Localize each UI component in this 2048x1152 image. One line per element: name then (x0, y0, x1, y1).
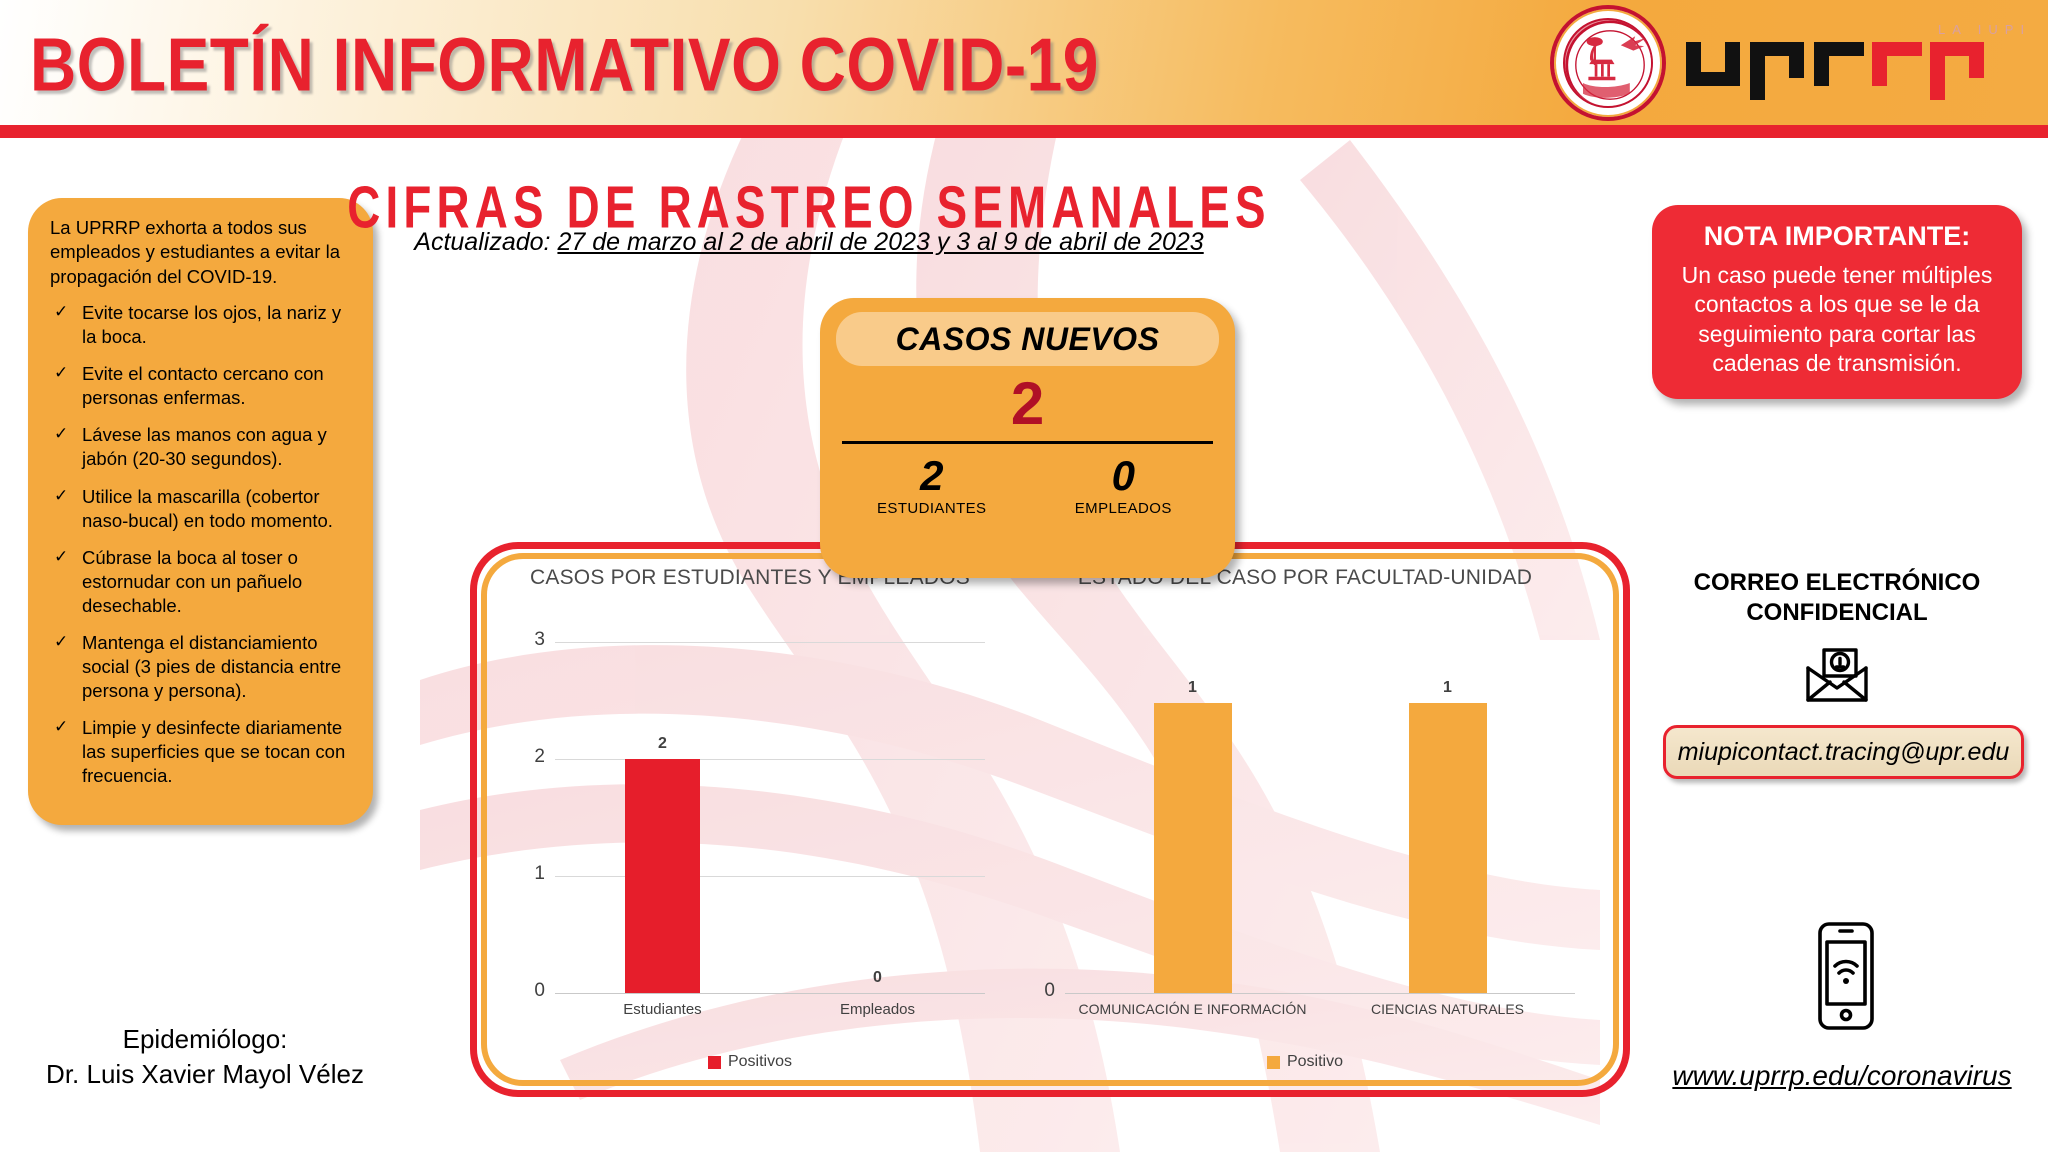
check-icon: ✓ (54, 716, 70, 788)
chart-gridline (555, 759, 985, 760)
updated-label: Actualizado: (414, 228, 550, 256)
website-link[interactable]: www.uprrp.edu/coronavirus (1652, 1060, 2032, 1092)
tip-text: Lávese las manos con agua y jabón (20-30… (82, 423, 351, 471)
chart-legend: Positivo (1005, 1053, 1605, 1071)
tip-text: Cúbrase la boca al toser o estornudar co… (82, 546, 351, 618)
legend-swatch (708, 1056, 721, 1069)
uprrp-wordmark: LA IUPI (1680, 20, 2040, 106)
legend-swatch (1267, 1056, 1280, 1069)
tip-item: ✓Lávese las manos con agua y jabón (20-3… (50, 423, 351, 471)
new-cases-heading-text: CASOS NUEVOS (896, 321, 1160, 358)
tip-item: ✓Mantenga el distanciamiento social (3 p… (50, 631, 351, 703)
tip-text: Limpie y desinfecte diariamente las supe… (82, 716, 351, 788)
chart-bar-label: 0 (838, 969, 918, 987)
tip-text: Mantenga el distanciamiento social (3 pi… (82, 631, 351, 703)
new-cases-heading: CASOS NUEVOS (836, 312, 1219, 366)
new-cases-employees: 0 EMPLEADOS (1028, 454, 1220, 517)
epidemiologist-role: Epidemiólogo: (10, 1022, 400, 1057)
chart-y-tick: 3 (515, 629, 545, 651)
chart-bar (1409, 703, 1487, 993)
chart-y-tick: 2 (515, 746, 545, 768)
new-cases-divider (842, 441, 1213, 444)
important-note-card: NOTA IMPORTANTE: Un caso puede tener múl… (1652, 205, 2022, 399)
check-icon: ✓ (54, 301, 70, 349)
new-cases-card: CASOS NUEVOS 2 2 ESTUDIANTES 0 EMPLEADOS (820, 298, 1235, 578)
chart-bar (625, 759, 700, 993)
tip-item: ✓Evite tocarse los ojos, la nariz y la b… (50, 301, 351, 349)
epidemiologist-credit: Epidemiólogo: Dr. Luis Xavier Mayol Véle… (10, 1022, 400, 1092)
note-body: Un caso puede tener múltiples contactos … (1672, 261, 2002, 379)
tips-list: ✓Evite tocarse los ojos, la nariz y la b… (50, 301, 351, 788)
contact-title-line1: CORREO ELECTRÓNICO (1652, 568, 2022, 598)
epidemiologist-name: Dr. Luis Xavier Mayol Vélez (10, 1057, 400, 1092)
contact-email-pill[interactable]: miupicontact.tracing@upr.edu (1663, 725, 2024, 779)
tip-text: Utilice la mascarilla (cobertor naso-buc… (82, 485, 351, 533)
contact-title-line2: CONFIDENCIAL (1652, 598, 2022, 628)
legend-label: Positivo (1287, 1053, 1343, 1071)
chart-bar (1154, 703, 1232, 993)
chart-x-label: COMUNICACIÓN E INFORMACIÓN (1065, 1001, 1320, 1017)
students-label: ESTUDIANTES (836, 500, 1028, 517)
chart-y-tick: 0 (1025, 980, 1055, 1002)
check-icon: ✓ (54, 546, 70, 618)
charts-area: CASOS POR ESTUDIANTES Y EMPLEADOS 01232E… (495, 566, 1605, 1073)
tip-item: ✓Limpie y desinfecte diariamente las sup… (50, 716, 351, 788)
prevention-tips-card: La UPRRP exhorta a todos sus empleados y… (28, 198, 373, 825)
check-icon: ✓ (54, 423, 70, 471)
chart-estado-del-caso-por-facultad-unidad: ESTADO DEL CASO POR FACULTAD-UNIDAD 01CO… (1005, 566, 1605, 1073)
smartphone-wifi-icon (1810, 920, 1882, 1037)
chart-bar-label: 1 (1408, 679, 1488, 697)
tip-item: ✓Cúbrase la boca al toser o estornudar c… (50, 546, 351, 618)
tip-item: ✓Utilice la mascarilla (cobertor naso-bu… (50, 485, 351, 533)
tip-item: ✓Evite el contacto cercano con personas … (50, 362, 351, 410)
legend-label: Positivos (728, 1053, 792, 1071)
chart-x-label: CIENCIAS NATURALES (1320, 1001, 1575, 1017)
chart-legend: Positivos (495, 1053, 1005, 1071)
chart-gridline (555, 876, 985, 877)
new-cases-students: 2 ESTUDIANTES (836, 454, 1028, 517)
check-icon: ✓ (54, 362, 70, 410)
check-icon: ✓ (54, 631, 70, 703)
svg-text:LA IUPI: LA IUPI (1938, 22, 2031, 37)
new-cases-total: 2 (836, 372, 1219, 435)
page-title: BOLETÍN INFORMATIVO COVID-19 (30, 21, 1099, 108)
chart-gridline (555, 993, 985, 994)
students-count: 2 (836, 454, 1028, 498)
tip-text: Evite tocarse los ojos, la nariz y la bo… (82, 301, 351, 349)
envelope-at-icon (1802, 642, 1872, 713)
uprrp-logo: LA IUPI (1550, 4, 2040, 122)
check-icon: ✓ (54, 485, 70, 533)
header-divider (0, 125, 2048, 138)
chart-bar-label: 2 (623, 735, 703, 753)
chart-y-tick: 1 (515, 863, 545, 885)
chart-x-label: Estudiantes (555, 1001, 770, 1018)
chart-y-tick: 0 (515, 980, 545, 1002)
chart-x-label: Empleados (770, 1001, 985, 1018)
page-header: BOLETÍN INFORMATIVO COVID-19 (0, 0, 2048, 125)
chart-right-plot: 01COMUNICACIÓN E INFORMACIÓN1CIENCIAS NA… (1005, 612, 1605, 1073)
note-title: NOTA IMPORTANTE: (1672, 221, 2002, 252)
chart-casos-por-estudiantes-y-empleados: CASOS POR ESTUDIANTES Y EMPLEADOS 01232E… (495, 566, 1005, 1073)
new-cases-breakdown: 2 ESTUDIANTES 0 EMPLEADOS (836, 454, 1219, 517)
updated-range: 27 de marzo al 2 de abril de 2023 y 3 al… (557, 228, 1203, 256)
tip-text: Evite el contacto cercano con personas e… (82, 362, 351, 410)
university-seal-icon (1550, 5, 1666, 121)
employees-count: 0 (1028, 454, 1220, 498)
chart-gridline (555, 642, 985, 643)
contact-email-text: miupicontact.tracing@upr.edu (1678, 738, 2010, 767)
contact-email-title: CORREO ELECTRÓNICO CONFIDENCIAL (1652, 568, 2022, 628)
chart-left-plot: 01232Estudiantes0EmpleadosPositivos (495, 612, 1005, 1073)
chart-bar-label: 1 (1153, 679, 1233, 697)
employees-label: EMPLEADOS (1028, 500, 1220, 517)
chart-gridline (1065, 993, 1575, 994)
